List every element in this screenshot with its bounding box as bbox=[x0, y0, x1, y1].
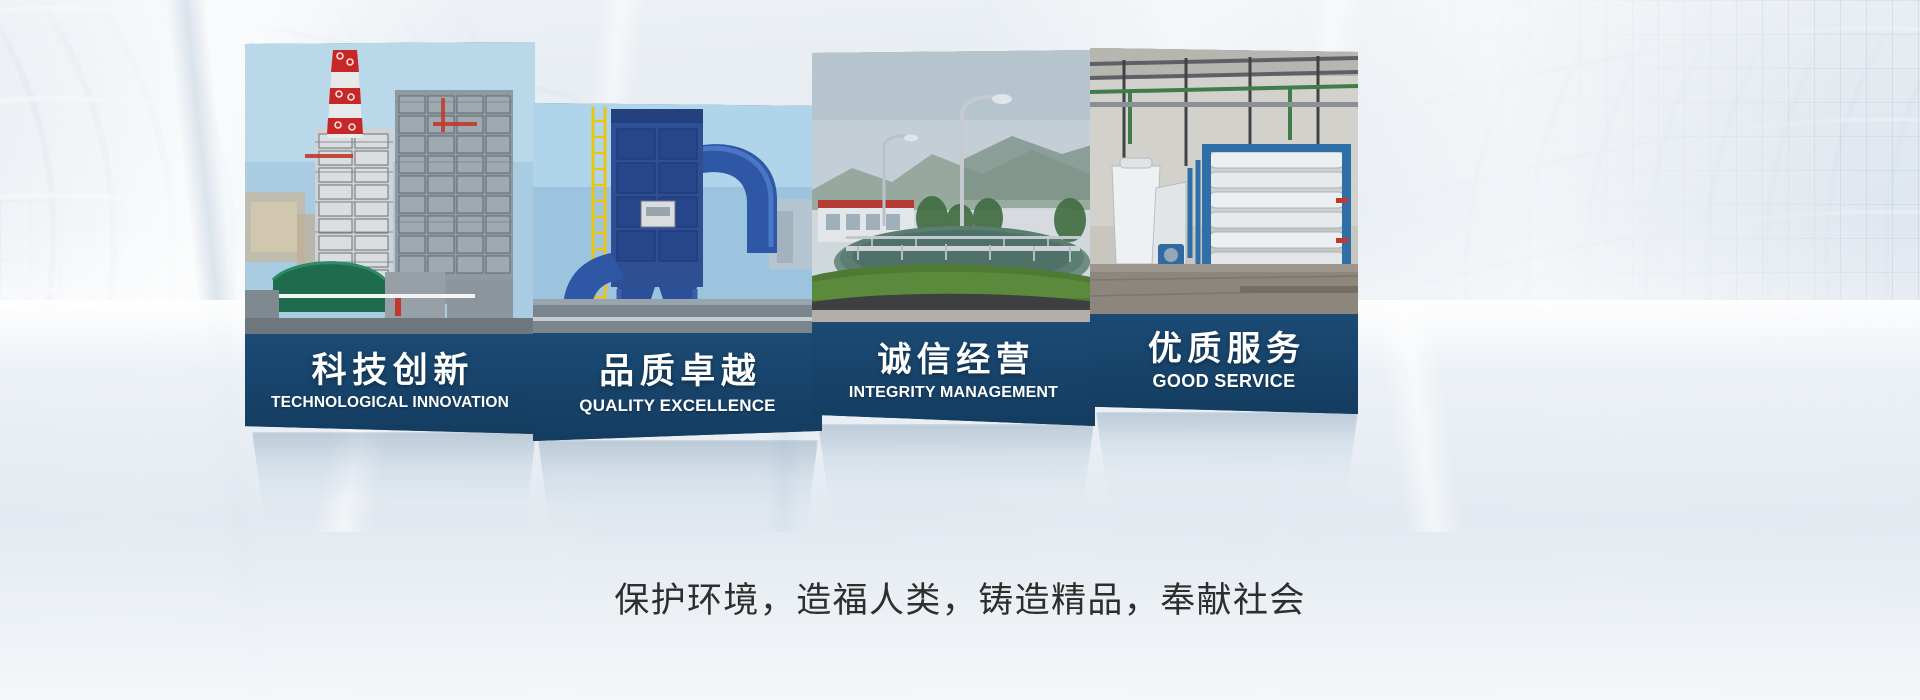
panel-title-cn-technological-innovation: 科技创新 bbox=[306, 353, 474, 390]
panel-caption-integrity-management: 诚信经营 INTEGRITY MANAGEMENT bbox=[812, 322, 1095, 426]
panel-caption-good-service: 优质服务 GOOD SERVICE bbox=[1090, 314, 1358, 414]
panel-title-en-quality-excellence: QUALITY EXCELLENCE bbox=[579, 397, 775, 416]
panel-photo-technological-innovation bbox=[245, 42, 535, 334]
panel-title-cn-good-service: 优质服务 bbox=[1142, 332, 1305, 368]
panel-integrity-management[interactable]: 诚信经营 INTEGRITY MANAGEMENT bbox=[812, 50, 1095, 426]
panel-photo-good-service bbox=[1090, 48, 1358, 314]
panel-title-en-technological-innovation: TECHNOLOGICAL INNOVATION bbox=[271, 394, 509, 411]
panel-photo-integrity-management bbox=[812, 50, 1095, 322]
panel-caption-technological-innovation: 科技创新 TECHNOLOGICAL INNOVATION bbox=[245, 334, 535, 434]
panel-title-en-good-service: GOOD SERVICE bbox=[1152, 372, 1295, 392]
banner-tagline: 保护环境，造福人类，铸造精品，奉献社会 bbox=[0, 572, 1920, 623]
panel-technological-innovation[interactable]: 科技创新 TECHNOLOGICAL INNOVATION bbox=[245, 42, 535, 434]
panel-title-cn-quality-excellence: 品质卓越 bbox=[594, 354, 762, 391]
panel-quality-excellence[interactable]: 品质卓越 QUALITY EXCELLENCE bbox=[533, 103, 822, 441]
panel-title-cn-integrity-management: 诚信经营 bbox=[872, 343, 1035, 379]
panel-title-en-integrity-management: INTEGRITY MANAGEMENT bbox=[849, 384, 1058, 402]
panel-photo-quality-excellence bbox=[533, 103, 822, 333]
panel-caption-quality-excellence: 品质卓越 QUALITY EXCELLENCE bbox=[533, 333, 822, 441]
panel-good-service[interactable]: 优质服务 GOOD SERVICE bbox=[1090, 48, 1358, 414]
banner-stage: 科技创新 TECHNOLOGICAL INNOVATION bbox=[0, 0, 1920, 700]
